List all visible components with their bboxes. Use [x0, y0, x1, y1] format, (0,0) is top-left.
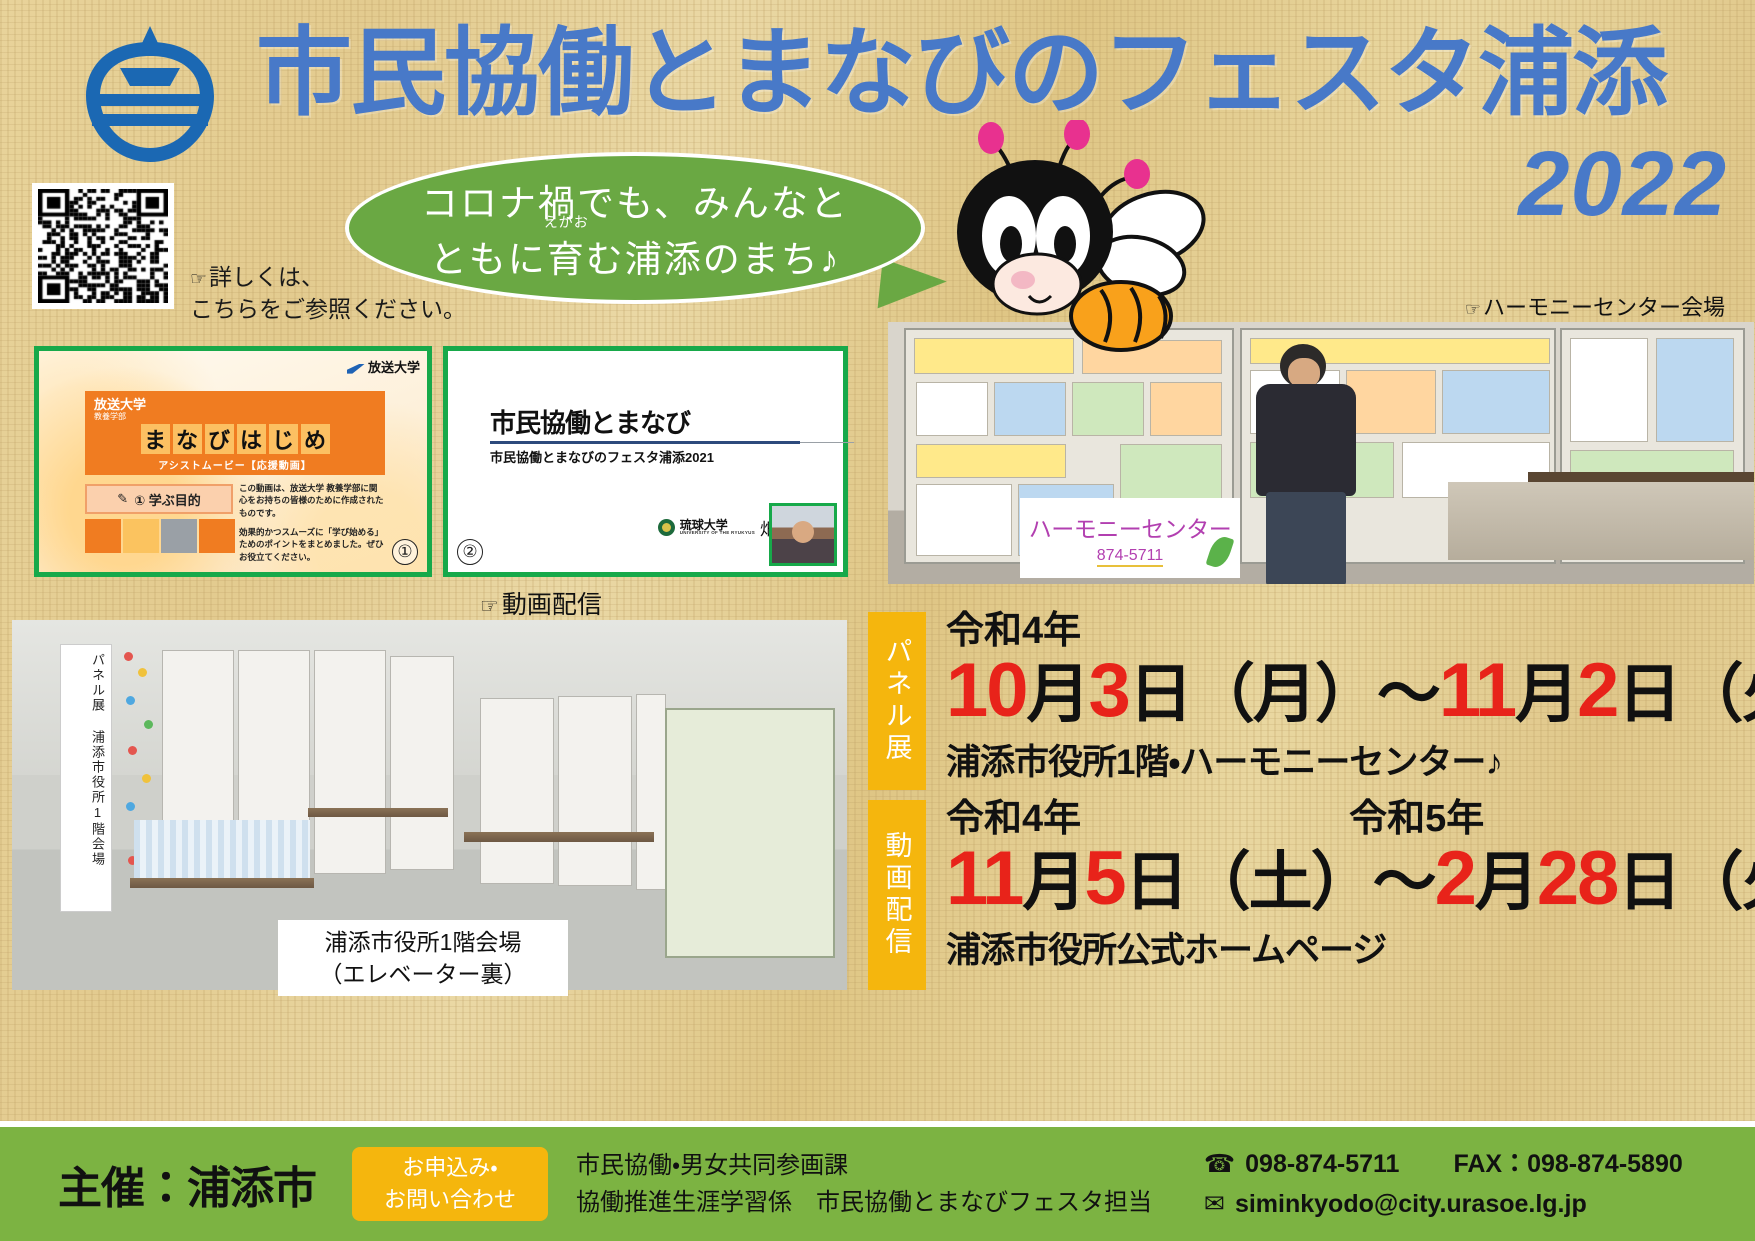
screenshot-shimin-kyodo: 市民協働とまなび 市民協働とまなびのフェスタ浦添2021 琉球大学UNIVERS…	[443, 346, 848, 577]
ryukyu-university-logo: 琉球大学UNIVERSITY OF THE RYUKYUS 畑	[658, 515, 777, 540]
tile-2: び	[205, 424, 234, 454]
pointing-hand-icon: ☞	[1465, 299, 1481, 319]
department-info: 市民協働・男女共同参画課 協働推進生涯学習係 市民協働とまなびフェスタ担当	[576, 1147, 1152, 1221]
screenshot1-body-text: この動画は、放送大学 教養学部に関心をお持ちの皆様のために作成されたものです。 …	[239, 482, 385, 563]
hall-panel	[314, 650, 386, 874]
harmony-center-card: ハーモニーセンター 874-5711	[1020, 498, 1240, 578]
screen-icon	[123, 519, 159, 553]
screenshot1-icon-row	[85, 519, 235, 553]
harmony-venue-label: ハーモニーセンター会場	[1483, 295, 1725, 320]
hall-panel	[558, 696, 632, 886]
open-book-icon	[199, 519, 235, 553]
department-line-2: 協働推進生涯学習係 市民協働とまなびフェスタ担当	[576, 1184, 1152, 1221]
hall-panel	[390, 656, 454, 870]
harmony-center-phone: 874-5711	[1097, 547, 1163, 567]
era-exhibition: 令和4年	[946, 612, 1755, 650]
photo-visitor	[1240, 344, 1368, 584]
telephone-icon: ☎	[1204, 1144, 1235, 1185]
harmony-center-name: ハーモニーセンター	[1029, 510, 1232, 544]
bee-mascot-icon	[905, 120, 1235, 360]
body-paragraph-2: 効果的かつスムーズに「学び始める」ためのポイントをまとめました。ぜひお役立てくだ…	[239, 526, 385, 563]
ruby-text: えがお	[544, 212, 589, 232]
screenshot2-background: 市民協働とまなび 市民協働とまなびのフェスタ浦添2021 琉球大学UNIVERS…	[448, 351, 843, 572]
photo-table-edge	[1528, 472, 1754, 482]
qr-code-icon[interactable]	[32, 183, 174, 309]
era-video-end: 令和5年	[1349, 800, 1484, 838]
tile-5: め	[301, 424, 330, 454]
dateline-exhibition: 10月3日（月）〜11月2日（火）	[946, 650, 1755, 732]
poster-root: 市民協働とまなびのフェスタ浦添 2022 コロナ禍でも、みんなと ともにえがお育…	[0, 0, 1755, 1241]
hall-venue-caption: 浦添市役所1階会場 （エレベーター裏）	[278, 920, 568, 996]
hall-panel	[480, 698, 554, 884]
assist-movie-subtitle: アシストムービー【応援動画】	[94, 457, 376, 472]
email-row: ✉ siminkyodo@city.urasoe.lg.jp	[1204, 1184, 1683, 1225]
pointing-hand-icon: ☞	[480, 595, 499, 618]
schedule-tag-video: 動画配信	[868, 800, 926, 990]
envelope-icon: ✉	[1204, 1184, 1225, 1225]
table-cloth	[134, 820, 310, 882]
venue-exhibition: 浦添市役所1階・ハーモニーセンター♪	[946, 734, 1755, 785]
era-video-start: 令和4年	[946, 800, 1081, 838]
hoso-daigaku-logo: 放送大学	[347, 357, 420, 376]
slide-subtitle: 市民協働とまなびのフェスタ浦添2021	[490, 447, 714, 466]
hall-caption-line-1: 浦添市役所1階会場	[325, 926, 522, 958]
learn-purpose-label: ① 学ぶ目的	[134, 490, 201, 509]
univ-name: 放送大学	[94, 398, 376, 412]
slide-rule-secondary	[800, 442, 854, 443]
globe-icon	[658, 519, 675, 536]
dateline-video: 11月5日（土）〜2月28日（火）	[946, 838, 1755, 920]
schedule-body-video: 令和4年 令和5年 11月5日（土）〜2月28日（火） 浦添市役所公式ホームペー…	[926, 800, 1755, 990]
hall-table	[464, 832, 654, 842]
learn-purpose-button: ✎ ① 学ぶ目的	[85, 484, 233, 514]
screenshot-hoso-daigaku: 放送大学 放送大学 教養学部 ま な び は じ め アシストムービー【応援動画…	[34, 346, 432, 577]
page-title: 市民協働とまなびのフェスタ浦添	[256, 22, 1506, 126]
devices-icon	[161, 519, 197, 553]
schedule-body-exhibition: 令和4年 10月3日（月）〜11月2日（火） 浦添市役所1階・ハーモニーセンター…	[926, 612, 1755, 790]
apply-contact-button[interactable]: お申込み・ お問い合わせ	[352, 1147, 548, 1221]
body-paragraph-1: この動画は、放送大学 教養学部に関心をお持ちの皆様のために作成されたものです。	[239, 482, 385, 519]
hall-art-panel	[665, 708, 835, 958]
tile-0: ま	[141, 424, 170, 454]
qr-note-line-1: 詳しくは、	[209, 264, 324, 290]
tile-1: な	[173, 424, 202, 454]
fax-number: FAX：098-874-5890	[1453, 1144, 1682, 1185]
ruby-annotation: えがお育	[547, 229, 586, 283]
hall-panel	[636, 694, 666, 890]
manabi-hajime-banner: 放送大学 教養学部 ま な び は じ め アシストムービー【応援動画】	[85, 391, 385, 475]
slide-rule	[490, 441, 800, 444]
contact-info: ☎ 098-874-5711 FAX：098-874-5890 ✉ simink…	[1204, 1144, 1683, 1225]
schedule-tag-exhibition: パネル展	[868, 612, 926, 790]
footer-bar: 主催：浦添市 お申込み・ お問い合わせ 市民協働・男女共同参画課 協働推進生涯学…	[0, 1121, 1755, 1241]
harmony-venue-note: ☞ハーモニーセンター会場	[1465, 290, 1725, 322]
bubble-line-2: ともにえがお育む浦添のまち♪	[430, 229, 841, 283]
phone-row: ☎ 098-874-5711 FAX：098-874-5890	[1204, 1144, 1683, 1185]
qr-note: ☞詳しくは、 こちらをご参照ください。	[190, 262, 466, 325]
era-row-video: 令和4年 令和5年	[946, 800, 1755, 838]
hall-vertical-banner: パネル展 浦添市役所1階会場	[60, 644, 112, 912]
apply-line-1: お申込み・	[402, 1152, 497, 1184]
schedule-panel-video: 動画配信 令和4年 令和5年 11月5日（土）〜2月28日（火） 浦添市役所公式…	[868, 800, 1755, 990]
title-year: 2022	[1518, 132, 1727, 237]
hall-table	[130, 878, 314, 888]
schedule-panel-exhibition: パネル展 令和4年 10月3日（月）〜11月2日（火） 浦添市役所1階・ハーモニ…	[868, 612, 1755, 790]
screenshot1-badge: ①	[392, 539, 418, 565]
ryukyu-univ-name: 琉球大学UNIVERSITY OF THE RYUKYUS	[680, 519, 755, 536]
apply-line-2: お問い合わせ	[384, 1184, 516, 1216]
screenshot2-badge: ②	[457, 539, 483, 565]
hall-table	[308, 808, 448, 817]
host-label: 主催：浦添市	[58, 1152, 316, 1216]
photo-harmony-center	[888, 322, 1754, 584]
tile-4: じ	[269, 424, 298, 454]
qr-note-line-2: こちらをご参照ください。	[190, 294, 466, 326]
photo-table-surface	[1448, 482, 1754, 560]
ryukyu-univ-name-en: UNIVERSITY OF THE RYUKYUS	[680, 531, 755, 536]
hall-caption-line-2: （エレベーター裏）	[320, 958, 527, 990]
slide-title: 市民協働とまなび	[490, 403, 690, 440]
univ-faculty: 教養学部	[94, 412, 376, 422]
ruby-base: 育	[547, 239, 586, 280]
email-address: siminkyodo@city.urasoe.lg.jp	[1235, 1184, 1587, 1225]
title-tiles: ま な び は じ め	[94, 424, 376, 454]
urasoe-city-crest-icon	[70, 22, 230, 167]
bubble-line-1: コロナ禍でも、みんなと	[421, 173, 849, 227]
books-icon	[85, 519, 121, 553]
pointing-hand-icon: ☞	[190, 269, 207, 290]
tile-3: は	[237, 424, 266, 454]
speaker-video-thumbnail	[769, 503, 837, 566]
video-notes-heading: 動画配信	[502, 591, 602, 619]
logo-mark-icon	[347, 364, 365, 374]
venue-video: 浦添市役所公式ホームページ	[946, 922, 1755, 973]
department-line-1: 市民協働・男女共同参画課	[576, 1147, 1152, 1184]
phone-number: 098-874-5711	[1245, 1144, 1399, 1185]
pencil-icon: ✎	[117, 491, 128, 507]
